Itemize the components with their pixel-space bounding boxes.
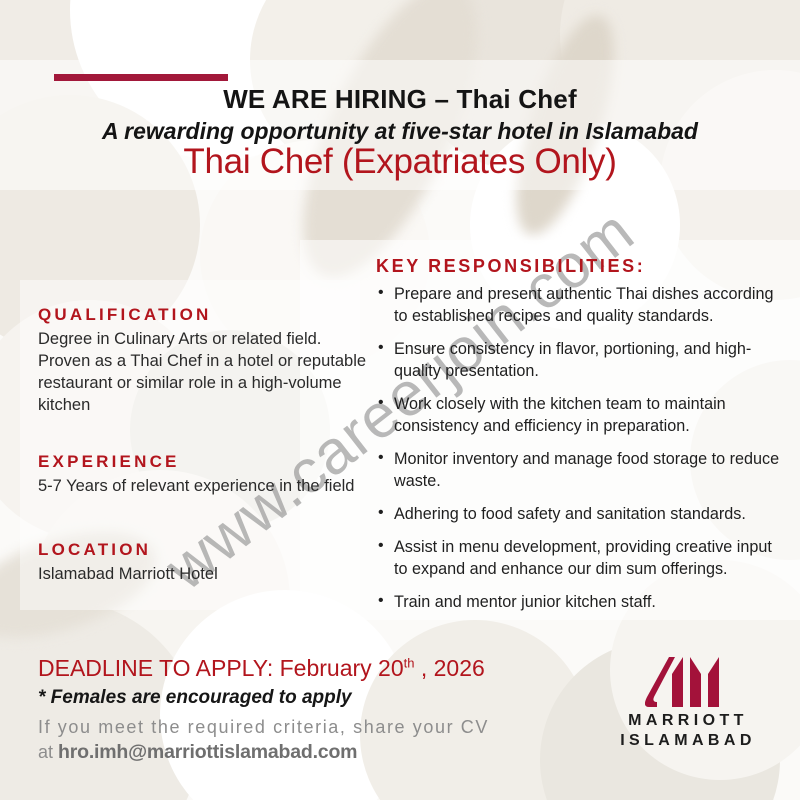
deadline-label: DEADLINE TO APPLY: February 20 xyxy=(38,655,404,681)
left-column: QUALIFICATION Degree in Culinary Arts or… xyxy=(38,305,368,586)
location-heading: LOCATION xyxy=(38,540,368,560)
marriott-m-icon xyxy=(645,655,731,709)
list-item: Work closely with the kitchen team to ma… xyxy=(376,393,786,437)
headline: WE ARE HIRING – Thai Chef xyxy=(0,84,800,115)
subheadline: A rewarding opportunity at five-star hot… xyxy=(0,118,800,145)
responsibilities-list: Prepare and present authentic Thai dishe… xyxy=(376,283,786,613)
qualification-heading: QUALIFICATION xyxy=(38,305,368,325)
list-item: Train and mentor junior kitchen staff. xyxy=(376,591,786,613)
experience-body: 5-7 Years of relevant experience in the … xyxy=(38,476,368,498)
email-address[interactable]: hro.imh@marriottislamabad.com xyxy=(58,741,357,763)
accent-bar xyxy=(54,74,228,81)
email-line: at hro.imh@marriottislamabad.com xyxy=(38,741,357,764)
email-prefix: at xyxy=(38,742,58,762)
list-item: Monitor inventory and manage food storag… xyxy=(376,448,786,492)
experience-heading: EXPERIENCE xyxy=(38,452,368,472)
deadline-ordinal: th xyxy=(404,655,415,670)
logo-city-text: ISLAMABAD xyxy=(608,732,768,750)
location-section: LOCATION Islamabad Marriott Hotel xyxy=(38,540,368,586)
responsibilities-section: KEY RESPONSIBILITIES: Prepare and presen… xyxy=(376,256,786,624)
marriott-logo: MARRIOTT ISLAMABAD xyxy=(608,655,768,750)
deadline-year: , 2026 xyxy=(414,655,484,681)
females-note: * Females are encouraged to apply xyxy=(38,687,352,709)
poster-content: WE ARE HIRING – Thai Chef A rewarding op… xyxy=(0,0,800,800)
list-item: Assist in menu development, providing cr… xyxy=(376,536,786,580)
deadline-text: DEADLINE TO APPLY: February 20th , 2026 xyxy=(38,655,485,682)
experience-section: EXPERIENCE 5-7 Years of relevant experie… xyxy=(38,452,368,498)
job-poster: www.careerjoin.com WE ARE HIRING – Thai … xyxy=(0,0,800,800)
location-body: Islamabad Marriott Hotel xyxy=(38,564,368,586)
responsibilities-heading: KEY RESPONSIBILITIES: xyxy=(376,256,786,277)
qualification-section: QUALIFICATION Degree in Culinary Arts or… xyxy=(38,305,368,417)
list-item: Adhering to food safety and sanitation s… xyxy=(376,503,786,525)
job-title: Thai Chef (Expatriates Only) xyxy=(0,142,800,182)
list-item: Ensure consistency in flavor, portioning… xyxy=(376,338,786,382)
logo-brand-text: MARRIOTT xyxy=(608,712,768,730)
qualification-body: Degree in Culinary Arts or related field… xyxy=(38,329,368,417)
list-item: Prepare and present authentic Thai dishe… xyxy=(376,283,786,327)
cv-instruction: If you meet the required criteria, share… xyxy=(38,717,489,738)
